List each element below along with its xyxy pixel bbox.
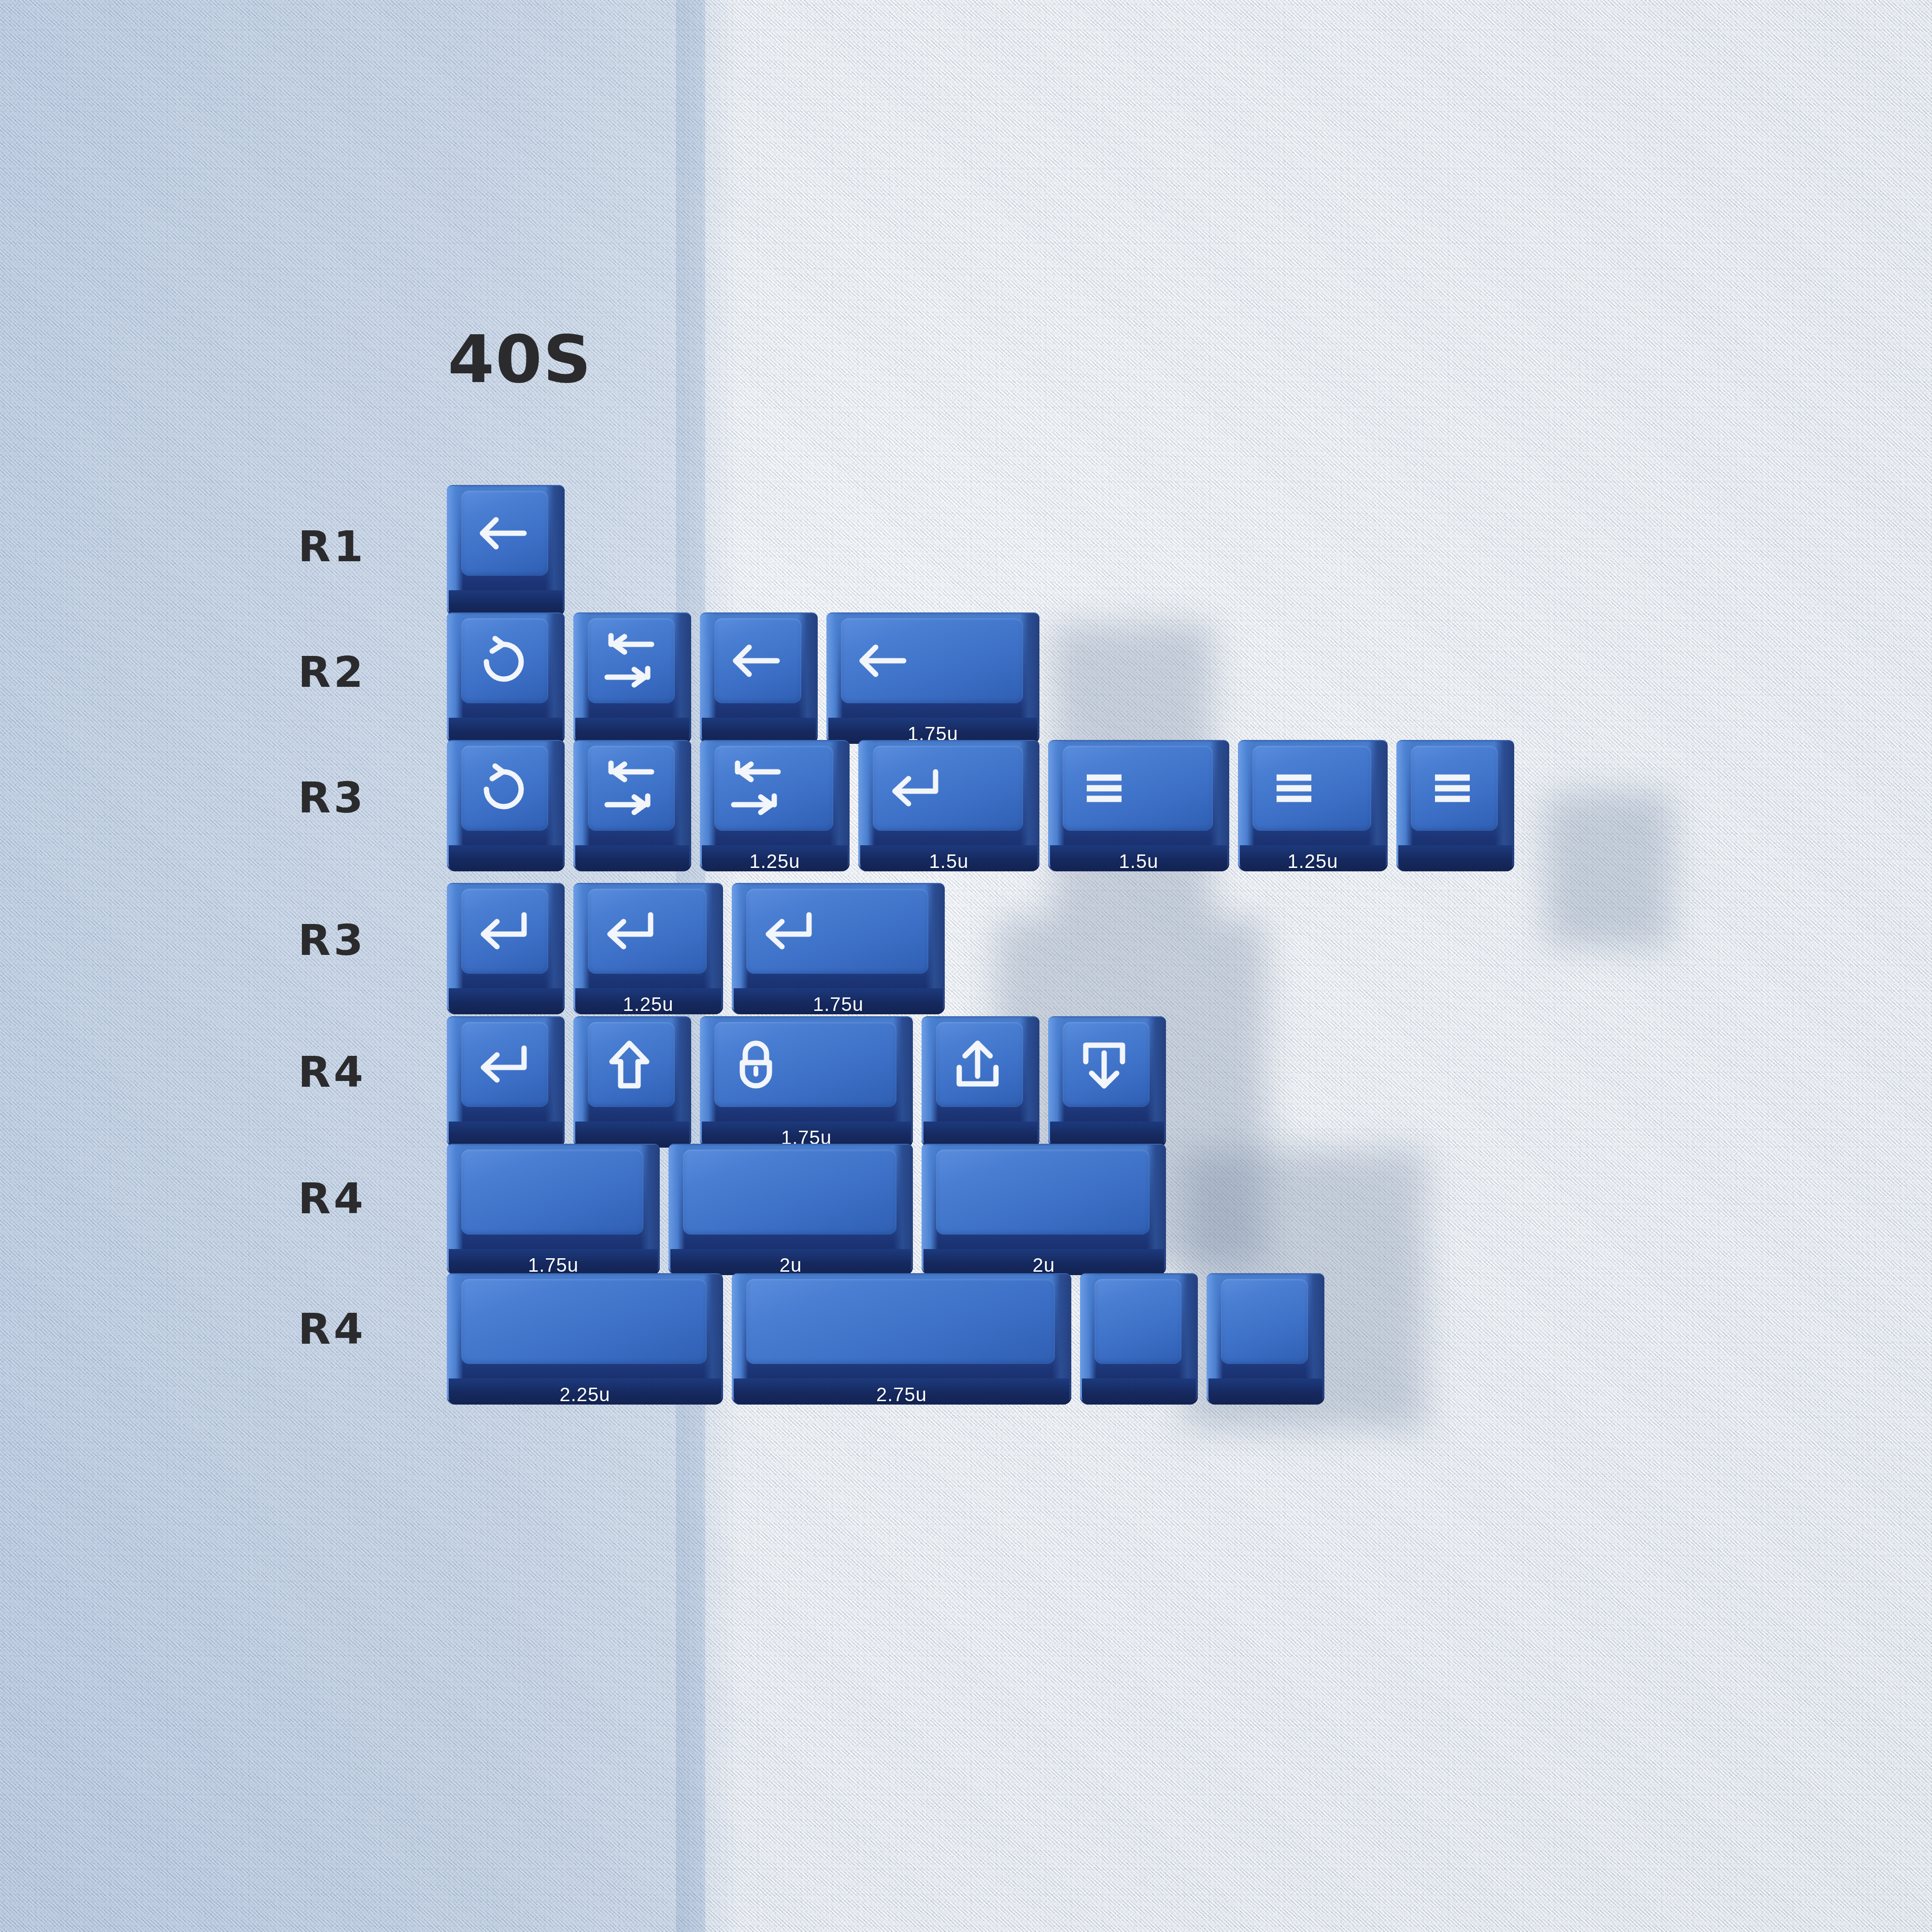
keycap-bottom-skirt bbox=[860, 845, 1037, 871]
keycap-top-surface bbox=[588, 618, 675, 703]
keycap-product-photo: 40S R1R2R3R3R4R4R4 1.75u bbox=[0, 0, 1932, 1932]
keycap-enter-return-1.5u[interactable]: 1.5u bbox=[858, 740, 1039, 871]
keycap-top-surface bbox=[588, 746, 675, 831]
enter-return-icon bbox=[759, 902, 817, 960]
row-label-r3a: R3 bbox=[298, 773, 424, 823]
enter-return-icon bbox=[474, 902, 532, 960]
tab-icon bbox=[600, 759, 658, 817]
keycap-top-surface bbox=[461, 1022, 548, 1107]
keycap-top-surface bbox=[873, 746, 1023, 831]
keycap-top-surface bbox=[683, 1150, 896, 1235]
keycap-bottom-skirt bbox=[1082, 1378, 1196, 1405]
keycap-blank-1.75u[interactable]: 1.75u bbox=[447, 1144, 660, 1275]
keycap-array-cast-shadow-right bbox=[1546, 792, 1671, 947]
tab-icon bbox=[727, 759, 785, 817]
keycap-blank-2.25u[interactable]: 2.25u bbox=[447, 1273, 723, 1405]
page-up-icon bbox=[949, 1036, 1007, 1094]
keycap-bottom-skirt bbox=[449, 845, 563, 871]
keycap-bottom-skirt bbox=[734, 1378, 1069, 1405]
keycap-top-surface bbox=[714, 1022, 896, 1107]
keycap-lock-padlock-1.75u[interactable]: 1.75u bbox=[700, 1016, 913, 1148]
backspace-arrow-icon bbox=[853, 632, 911, 690]
keycap-bottom-skirt bbox=[1398, 845, 1512, 871]
keycap-top-surface bbox=[1063, 746, 1213, 831]
tab-icon bbox=[600, 632, 658, 690]
background-vignette bbox=[0, 0, 1932, 1932]
keycap-bottom-skirt bbox=[1208, 1378, 1322, 1405]
keycap-bottom-skirt bbox=[575, 988, 721, 1014]
keycap-top-surface bbox=[841, 618, 1023, 703]
keycap-bottom-skirt bbox=[923, 1249, 1164, 1275]
keycap-menu-hamburger-1.25u[interactable]: 1.25u bbox=[1238, 740, 1388, 871]
caps-lock-rotate-icon bbox=[474, 632, 532, 690]
keycap-bottom-skirt bbox=[1240, 845, 1386, 871]
keycap-blank-1u[interactable] bbox=[1080, 1273, 1198, 1405]
keycap-blank-2u[interactable]: 2u bbox=[668, 1144, 913, 1275]
keycap-bottom-skirt bbox=[1050, 845, 1227, 871]
enter-return-icon bbox=[474, 1036, 532, 1094]
keycap-tab-1u[interactable] bbox=[573, 612, 691, 744]
keycap-caps-lock-rotate-1u[interactable] bbox=[447, 740, 565, 871]
keycap-backspace-arrow-1u[interactable] bbox=[447, 485, 565, 616]
keycap-top-surface bbox=[746, 889, 928, 974]
keycap-page-up-1u[interactable] bbox=[922, 1016, 1039, 1148]
keycap-bottom-skirt bbox=[575, 845, 689, 871]
row-label-r1: R1 bbox=[298, 522, 424, 571]
row-label-r4c: R4 bbox=[298, 1304, 424, 1354]
keycap-caps-lock-rotate-1u[interactable] bbox=[447, 612, 565, 744]
keycap-bottom-skirt bbox=[449, 988, 563, 1014]
keycap-blank-2u[interactable]: 2u bbox=[922, 1144, 1166, 1275]
keycap-bottom-skirt bbox=[449, 1249, 658, 1275]
keycap-blank-1u[interactable] bbox=[1207, 1273, 1324, 1405]
keycap-menu-hamburger-1.5u[interactable]: 1.5u bbox=[1048, 740, 1229, 871]
keycap-top-surface bbox=[936, 1022, 1023, 1107]
keycap-top-surface bbox=[1411, 746, 1498, 831]
keycap-tab-1u[interactable] bbox=[573, 740, 691, 871]
keycap-shift-up-arrow-1u[interactable] bbox=[573, 1016, 691, 1148]
keycap-blank-2.75u[interactable]: 2.75u bbox=[732, 1273, 1071, 1405]
backspace-arrow-icon bbox=[474, 504, 532, 562]
keycap-top-surface bbox=[1221, 1279, 1308, 1364]
row-label-r4a: R4 bbox=[298, 1047, 424, 1097]
page-down-icon bbox=[1075, 1036, 1133, 1094]
row-label-r3b: R3 bbox=[298, 915, 424, 965]
keycap-enter-return-1.75u[interactable]: 1.75u bbox=[732, 883, 945, 1014]
backspace-arrow-icon bbox=[727, 632, 785, 690]
keycap-top-surface bbox=[1094, 1279, 1181, 1364]
row-label-r2: R2 bbox=[298, 647, 424, 697]
keycap-backspace-arrow-1u[interactable] bbox=[700, 612, 818, 744]
keycap-enter-return-1u[interactable] bbox=[447, 1016, 565, 1148]
keycap-enter-return-1.25u[interactable]: 1.25u bbox=[573, 883, 723, 1014]
keycap-tab-1.25u[interactable]: 1.25u bbox=[700, 740, 850, 871]
keycap-top-surface bbox=[1252, 746, 1371, 831]
keycap-bottom-skirt bbox=[449, 1378, 721, 1405]
keycap-menu-hamburger-1u[interactable] bbox=[1396, 740, 1514, 871]
keycap-top-surface bbox=[714, 618, 801, 703]
page-title: 40S bbox=[448, 321, 592, 398]
keycap-bottom-skirt bbox=[734, 988, 943, 1014]
keycap-top-surface bbox=[461, 746, 548, 831]
lock-padlock-icon bbox=[727, 1036, 785, 1094]
keycap-top-surface bbox=[461, 618, 548, 703]
keycap-top-surface bbox=[461, 889, 548, 974]
enter-return-icon bbox=[885, 759, 943, 817]
keycap-top-surface bbox=[1063, 1022, 1150, 1107]
keycap-top-surface bbox=[461, 1279, 707, 1364]
keycap-top-surface bbox=[461, 1150, 643, 1235]
menu-hamburger-icon bbox=[1423, 759, 1481, 817]
shift-up-arrow-icon bbox=[600, 1036, 658, 1094]
keycap-bottom-skirt bbox=[702, 845, 848, 871]
keycap-top-surface bbox=[461, 491, 548, 576]
keycap-top-surface bbox=[936, 1150, 1150, 1235]
row-label-r4b: R4 bbox=[298, 1174, 424, 1223]
keycap-bottom-skirt bbox=[670, 1249, 911, 1275]
keycap-enter-return-1u[interactable] bbox=[447, 883, 565, 1014]
menu-hamburger-icon bbox=[1075, 759, 1133, 817]
keycap-page-down-1u[interactable] bbox=[1048, 1016, 1166, 1148]
keycap-top-surface bbox=[588, 1022, 675, 1107]
menu-hamburger-icon bbox=[1265, 759, 1323, 817]
keycap-top-surface bbox=[588, 889, 707, 974]
keycap-backspace-arrow-1.75u[interactable]: 1.75u bbox=[826, 612, 1039, 744]
keycap-top-surface bbox=[746, 1279, 1055, 1364]
caps-lock-rotate-icon bbox=[474, 759, 532, 817]
keycap-top-surface bbox=[714, 746, 833, 831]
enter-return-icon bbox=[600, 902, 658, 960]
